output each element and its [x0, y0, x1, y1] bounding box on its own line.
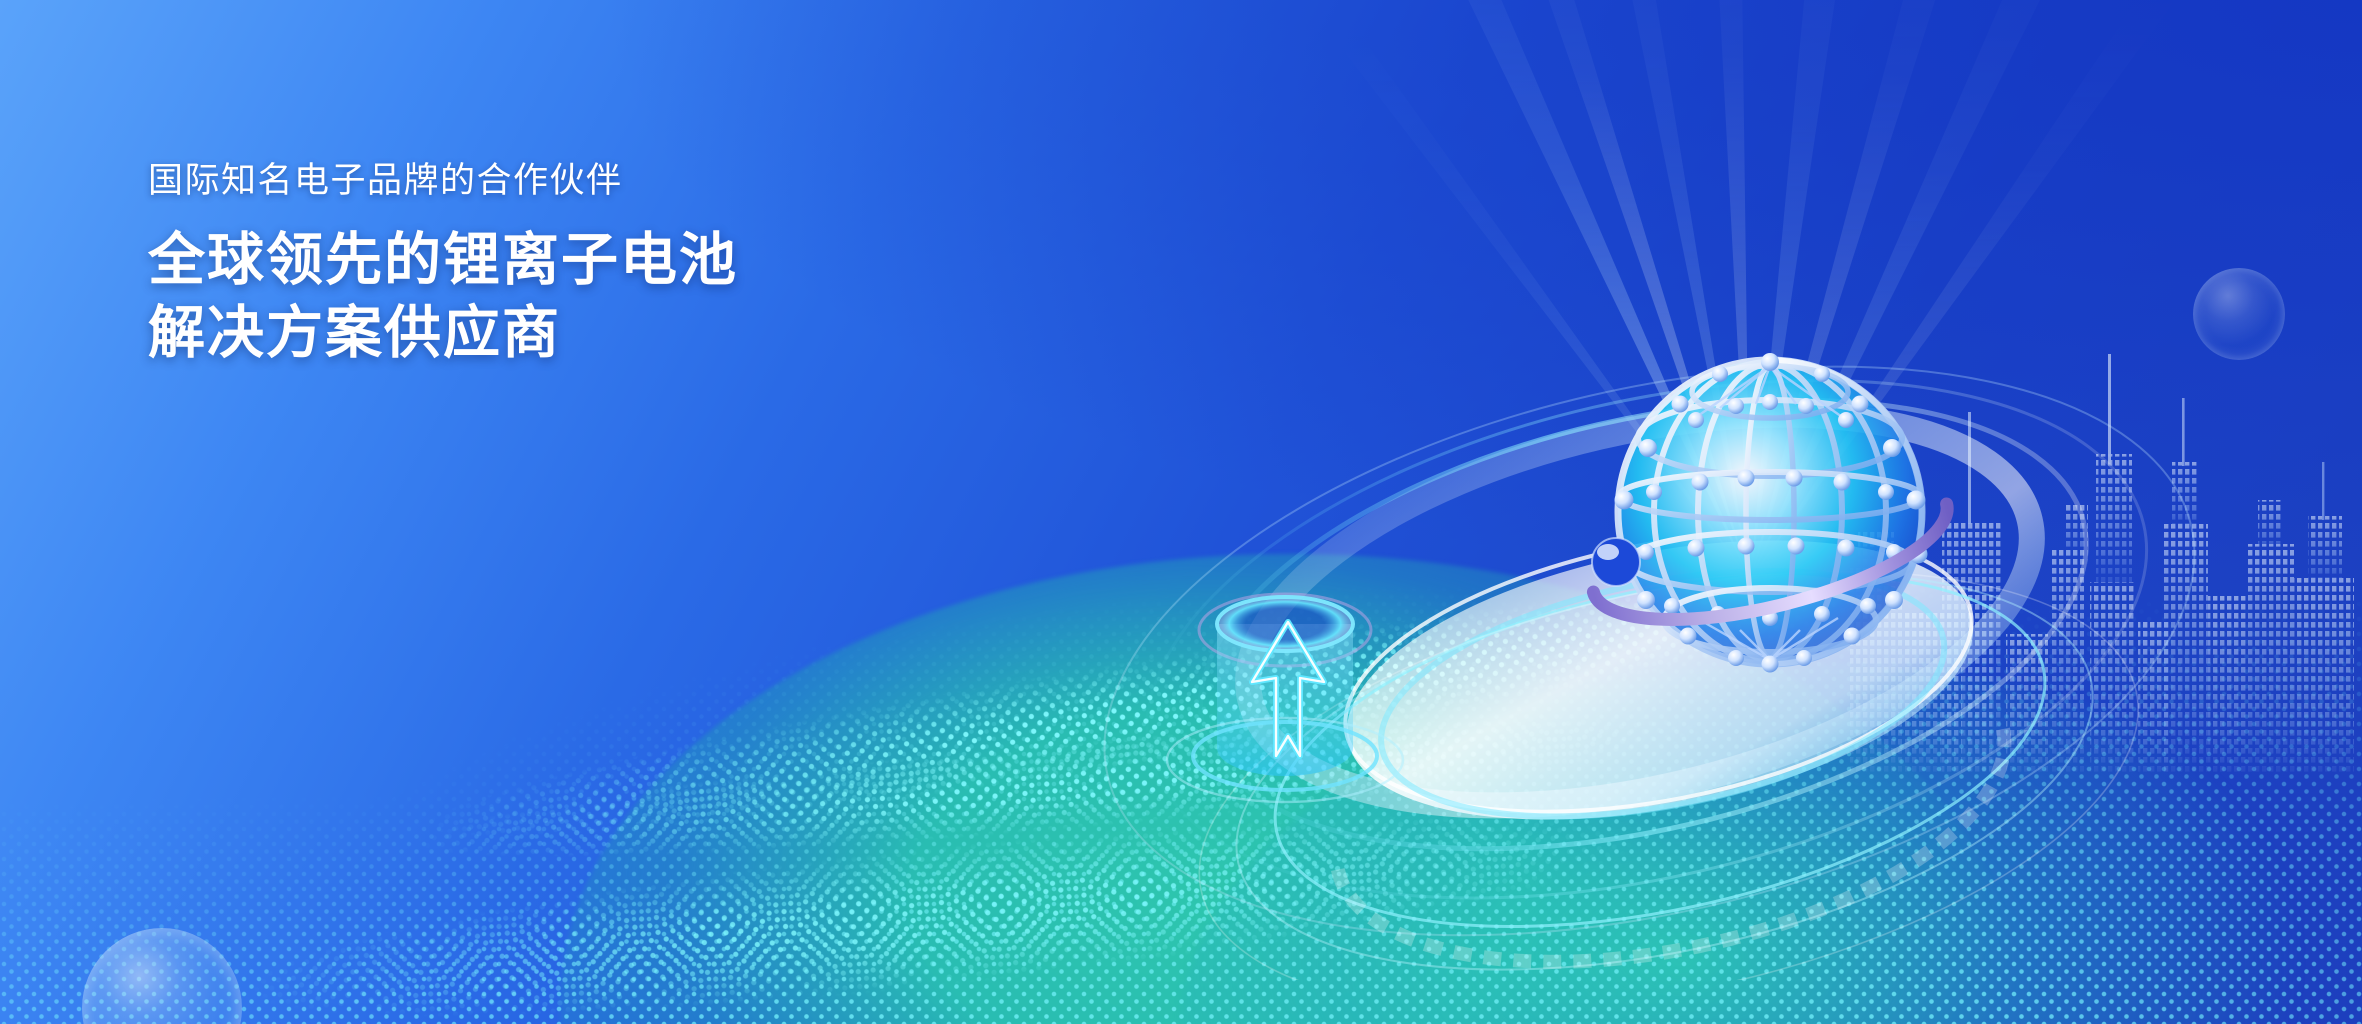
wireframe-globe-graphic	[1560, 300, 1980, 720]
page-title: 全球领先的锂离子电池 解决方案供应商	[148, 224, 1148, 370]
headline-line-2: 解决方案供应商	[148, 297, 1148, 370]
banner-eyebrow: 国际知名电子品牌的合作伙伴	[148, 160, 1148, 202]
headline-line-1: 全球领先的锂离子电池	[148, 224, 1148, 297]
hero-banner: 国际知名电子品牌的合作伙伴 全球领先的锂离子电池 解决方案供应商	[0, 0, 2362, 1024]
glass-bubble-bottom-left	[82, 928, 242, 1024]
upward-growth-arrow	[1160, 560, 1420, 810]
banner-copy: 国际知名电子品牌的合作伙伴 全球领先的锂离子电池 解决方案供应商	[148, 160, 1148, 370]
